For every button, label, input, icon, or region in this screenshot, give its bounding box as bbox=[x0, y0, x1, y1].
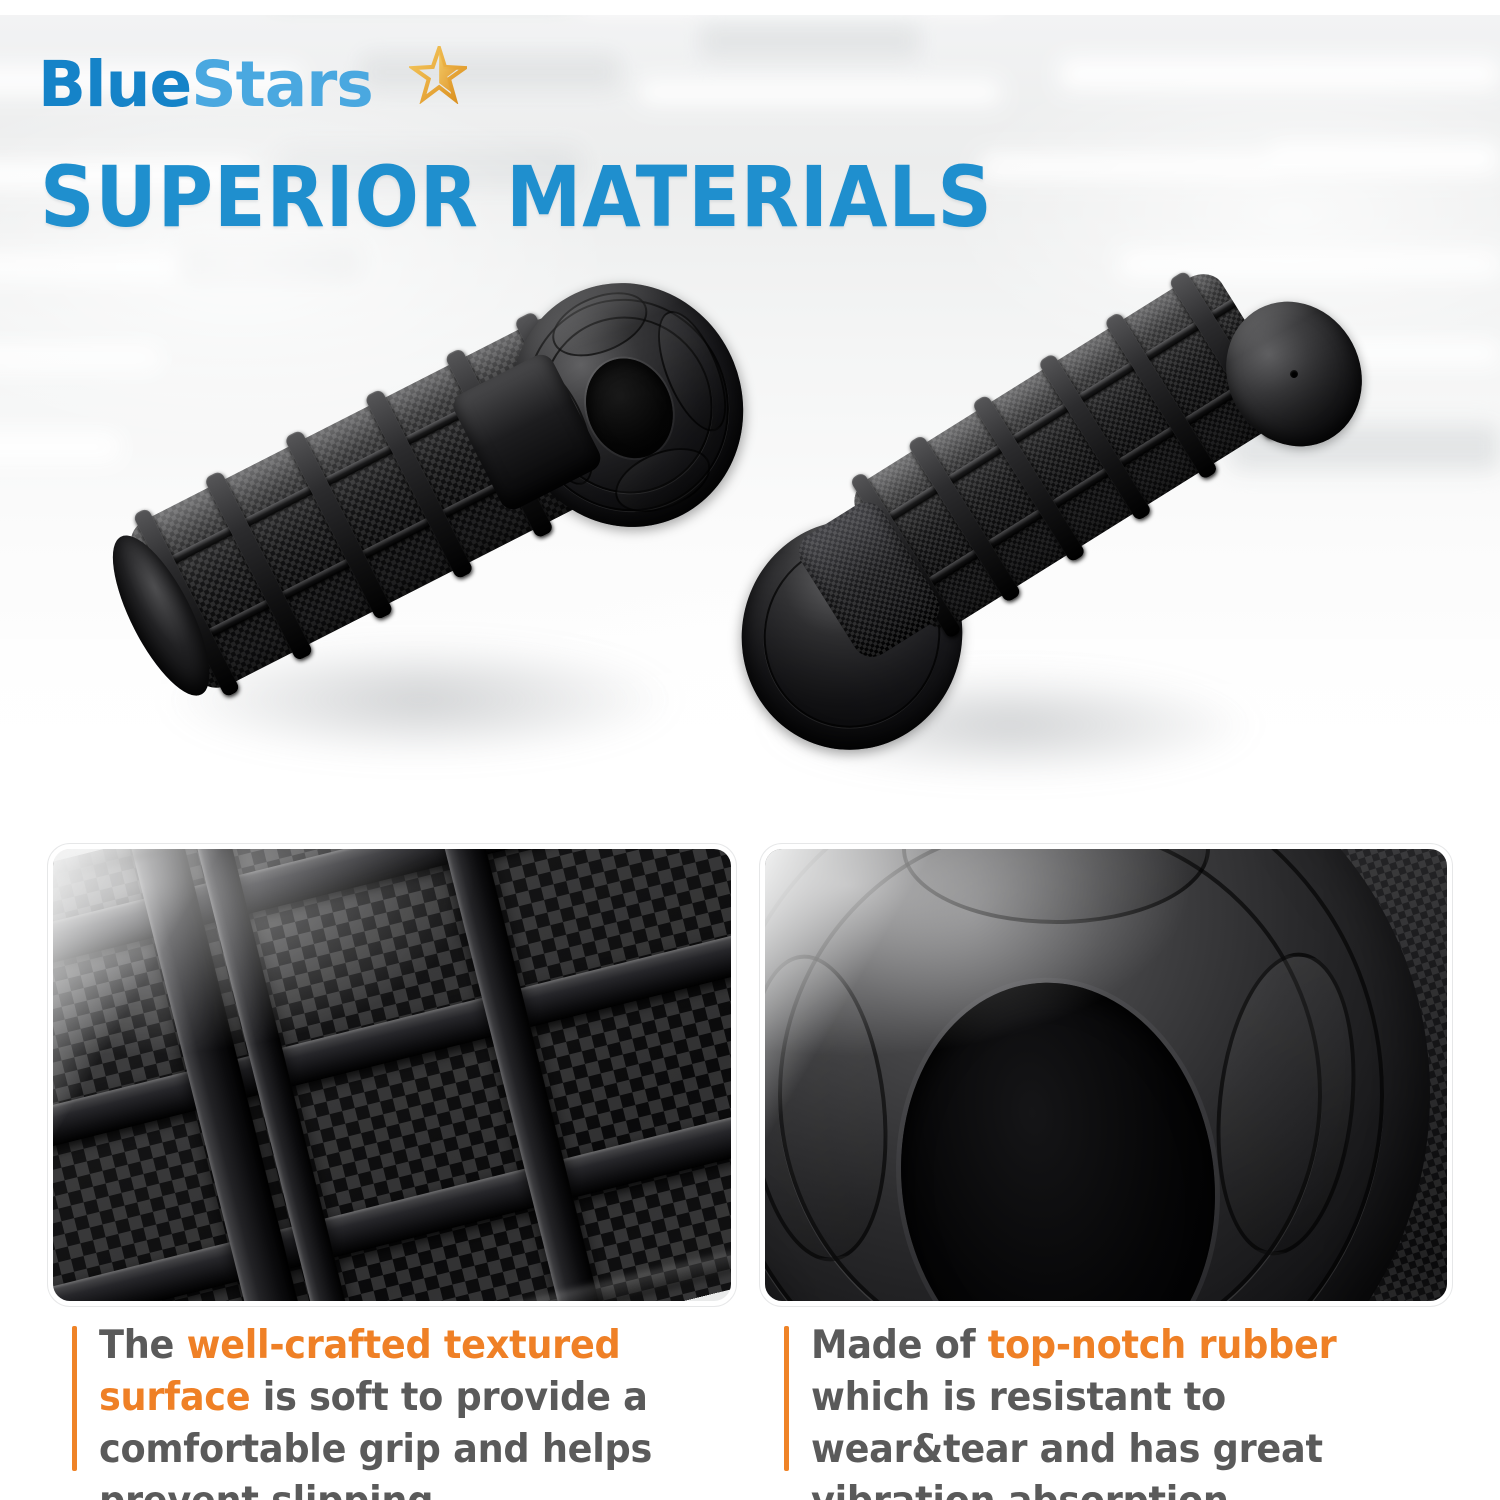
caption-right-rest: which is resistant to wear&tear and has … bbox=[811, 1375, 1323, 1500]
endcap-macro-image bbox=[765, 849, 1430, 1301]
grip-left bbox=[120, 280, 760, 780]
hero-product-images bbox=[0, 250, 1500, 820]
brand-name-blue: Blue bbox=[38, 48, 191, 121]
star-icon bbox=[409, 46, 467, 104]
caption-left-text: The well-crafted textured surface is sof… bbox=[99, 1320, 713, 1500]
caption-right-text: Made of top-notch rubber which is resist… bbox=[811, 1320, 1425, 1500]
caption-left: The well-crafted textured surface is sof… bbox=[72, 1320, 752, 1500]
brand-logo: BlueStars bbox=[38, 48, 373, 122]
accent-bar-left bbox=[72, 1326, 77, 1471]
brand-name-stars: Stars bbox=[191, 48, 373, 121]
feature-captions: The well-crafted textured surface is sof… bbox=[0, 1320, 1500, 1500]
page-title: SUPERIOR MATERIALS bbox=[40, 149, 993, 245]
panel-endcap-closeup bbox=[760, 844, 1452, 1306]
caption-right-highlight: top-notch rubber bbox=[988, 1323, 1337, 1368]
caption-right: Made of top-notch rubber which is resist… bbox=[784, 1320, 1464, 1500]
accent-bar-right bbox=[784, 1326, 789, 1471]
detail-panels bbox=[0, 840, 1500, 1310]
panel-texture-closeup bbox=[48, 844, 736, 1306]
caption-right-lead: Made of bbox=[811, 1323, 988, 1368]
grip-right bbox=[730, 270, 1370, 790]
product-infographic: BlueStars SUPERIOR MATERIALS bbox=[0, 0, 1500, 1500]
texture-macro-image bbox=[53, 849, 731, 1301]
top-white-band bbox=[0, 0, 1500, 15]
caption-left-lead: The bbox=[99, 1323, 187, 1368]
